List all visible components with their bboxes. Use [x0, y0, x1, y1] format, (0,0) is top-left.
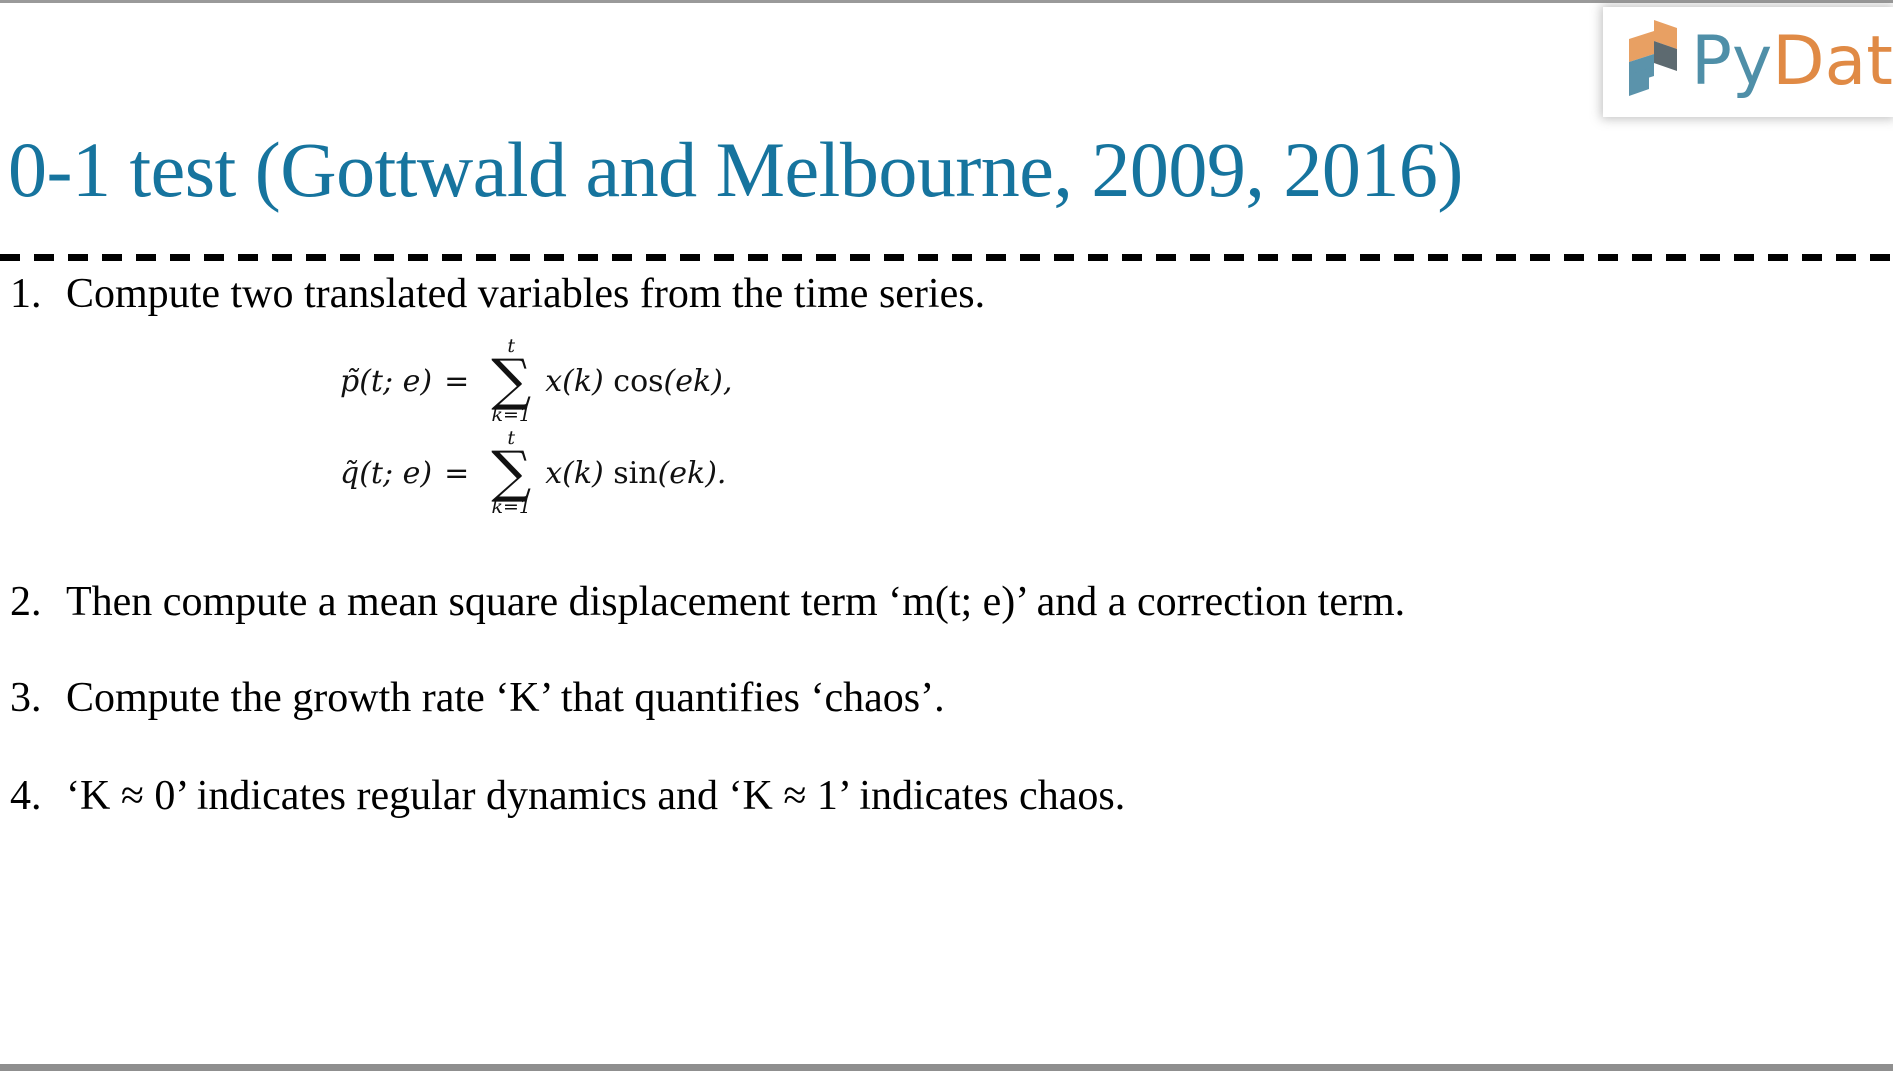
list-item: 1. Compute two translated variables from…	[10, 269, 1850, 319]
sigma-icon: ∑	[491, 357, 531, 405]
list-item: 2. Then compute a mean square displaceme…	[10, 577, 1850, 627]
formula-block: p̃(t; e) = t ∑ k=1 x(k) cos(ek), q̃(t; e…	[10, 335, 1850, 519]
page-title: 0-1 test (Gottwald and Melbourne, 2009, …	[8, 127, 1868, 213]
formula-rhs-variable: x(k)	[545, 364, 604, 399]
formula-lhs: p̃(t; e)	[340, 364, 432, 399]
summation-operator: t ∑ k=1	[491, 337, 531, 425]
logo-data-text: Data	[1772, 22, 1893, 101]
formula-rhs-argument: (ek).	[658, 456, 727, 491]
list-item-number: 2.	[10, 577, 66, 627]
pydata-wordmark: PyData	[1691, 28, 1893, 96]
list-item-label: ‘K ≈ 0’ indicates regular dynamics and ‘…	[66, 771, 1850, 821]
formula-equals: =	[444, 456, 469, 491]
formula-rhs-argument: (ek),	[664, 364, 733, 399]
formula-q-tilde: q̃(t; e) = t ∑ k=1 x(k) sin(ek).	[340, 427, 1850, 519]
formula-rhs-function: sin	[613, 456, 657, 491]
list-item: 3. Compute the growth rate ‘K’ that quan…	[10, 673, 1850, 723]
formula-rhs-function: cos	[613, 364, 663, 399]
list-item-label: Compute two translated variables from th…	[66, 269, 1850, 319]
summation-lower-limit: k=1	[491, 498, 531, 517]
formula-p-tilde: p̃(t; e) = t ∑ k=1 x(k) cos(ek),	[340, 335, 1850, 427]
list-item-number: 3.	[10, 673, 66, 723]
list-item-label: Compute the growth rate ‘K’ that quantif…	[66, 673, 1850, 723]
summation-operator: t ∑ k=1	[491, 429, 531, 517]
formula-rhs: x(k) sin(ek).	[545, 456, 726, 491]
slide: PyData 0-1 test (Gottwald and Melbourne,…	[0, 0, 1893, 1071]
formula-rhs: x(k) cos(ek),	[545, 364, 732, 399]
sigma-icon: ∑	[491, 449, 531, 497]
title-divider	[0, 254, 1893, 261]
pydata-logo: PyData	[1603, 7, 1893, 117]
list-item: 4. ‘K ≈ 0’ indicates regular dynamics an…	[10, 771, 1850, 821]
formula-rhs-variable: x(k)	[545, 456, 604, 491]
body-list: 1. Compute two translated variables from…	[10, 269, 1850, 821]
formula-lhs: q̃(t; e)	[340, 456, 432, 491]
formula-equals: =	[444, 364, 469, 399]
summation-lower-limit: k=1	[491, 406, 531, 425]
list-item-number: 4.	[10, 771, 66, 821]
list-item-number: 1.	[10, 269, 66, 319]
list-item-label: Then compute a mean square displacement …	[66, 577, 1850, 627]
pydata-cube-icon	[1621, 19, 1687, 105]
logo-py-text: Py	[1691, 22, 1772, 101]
